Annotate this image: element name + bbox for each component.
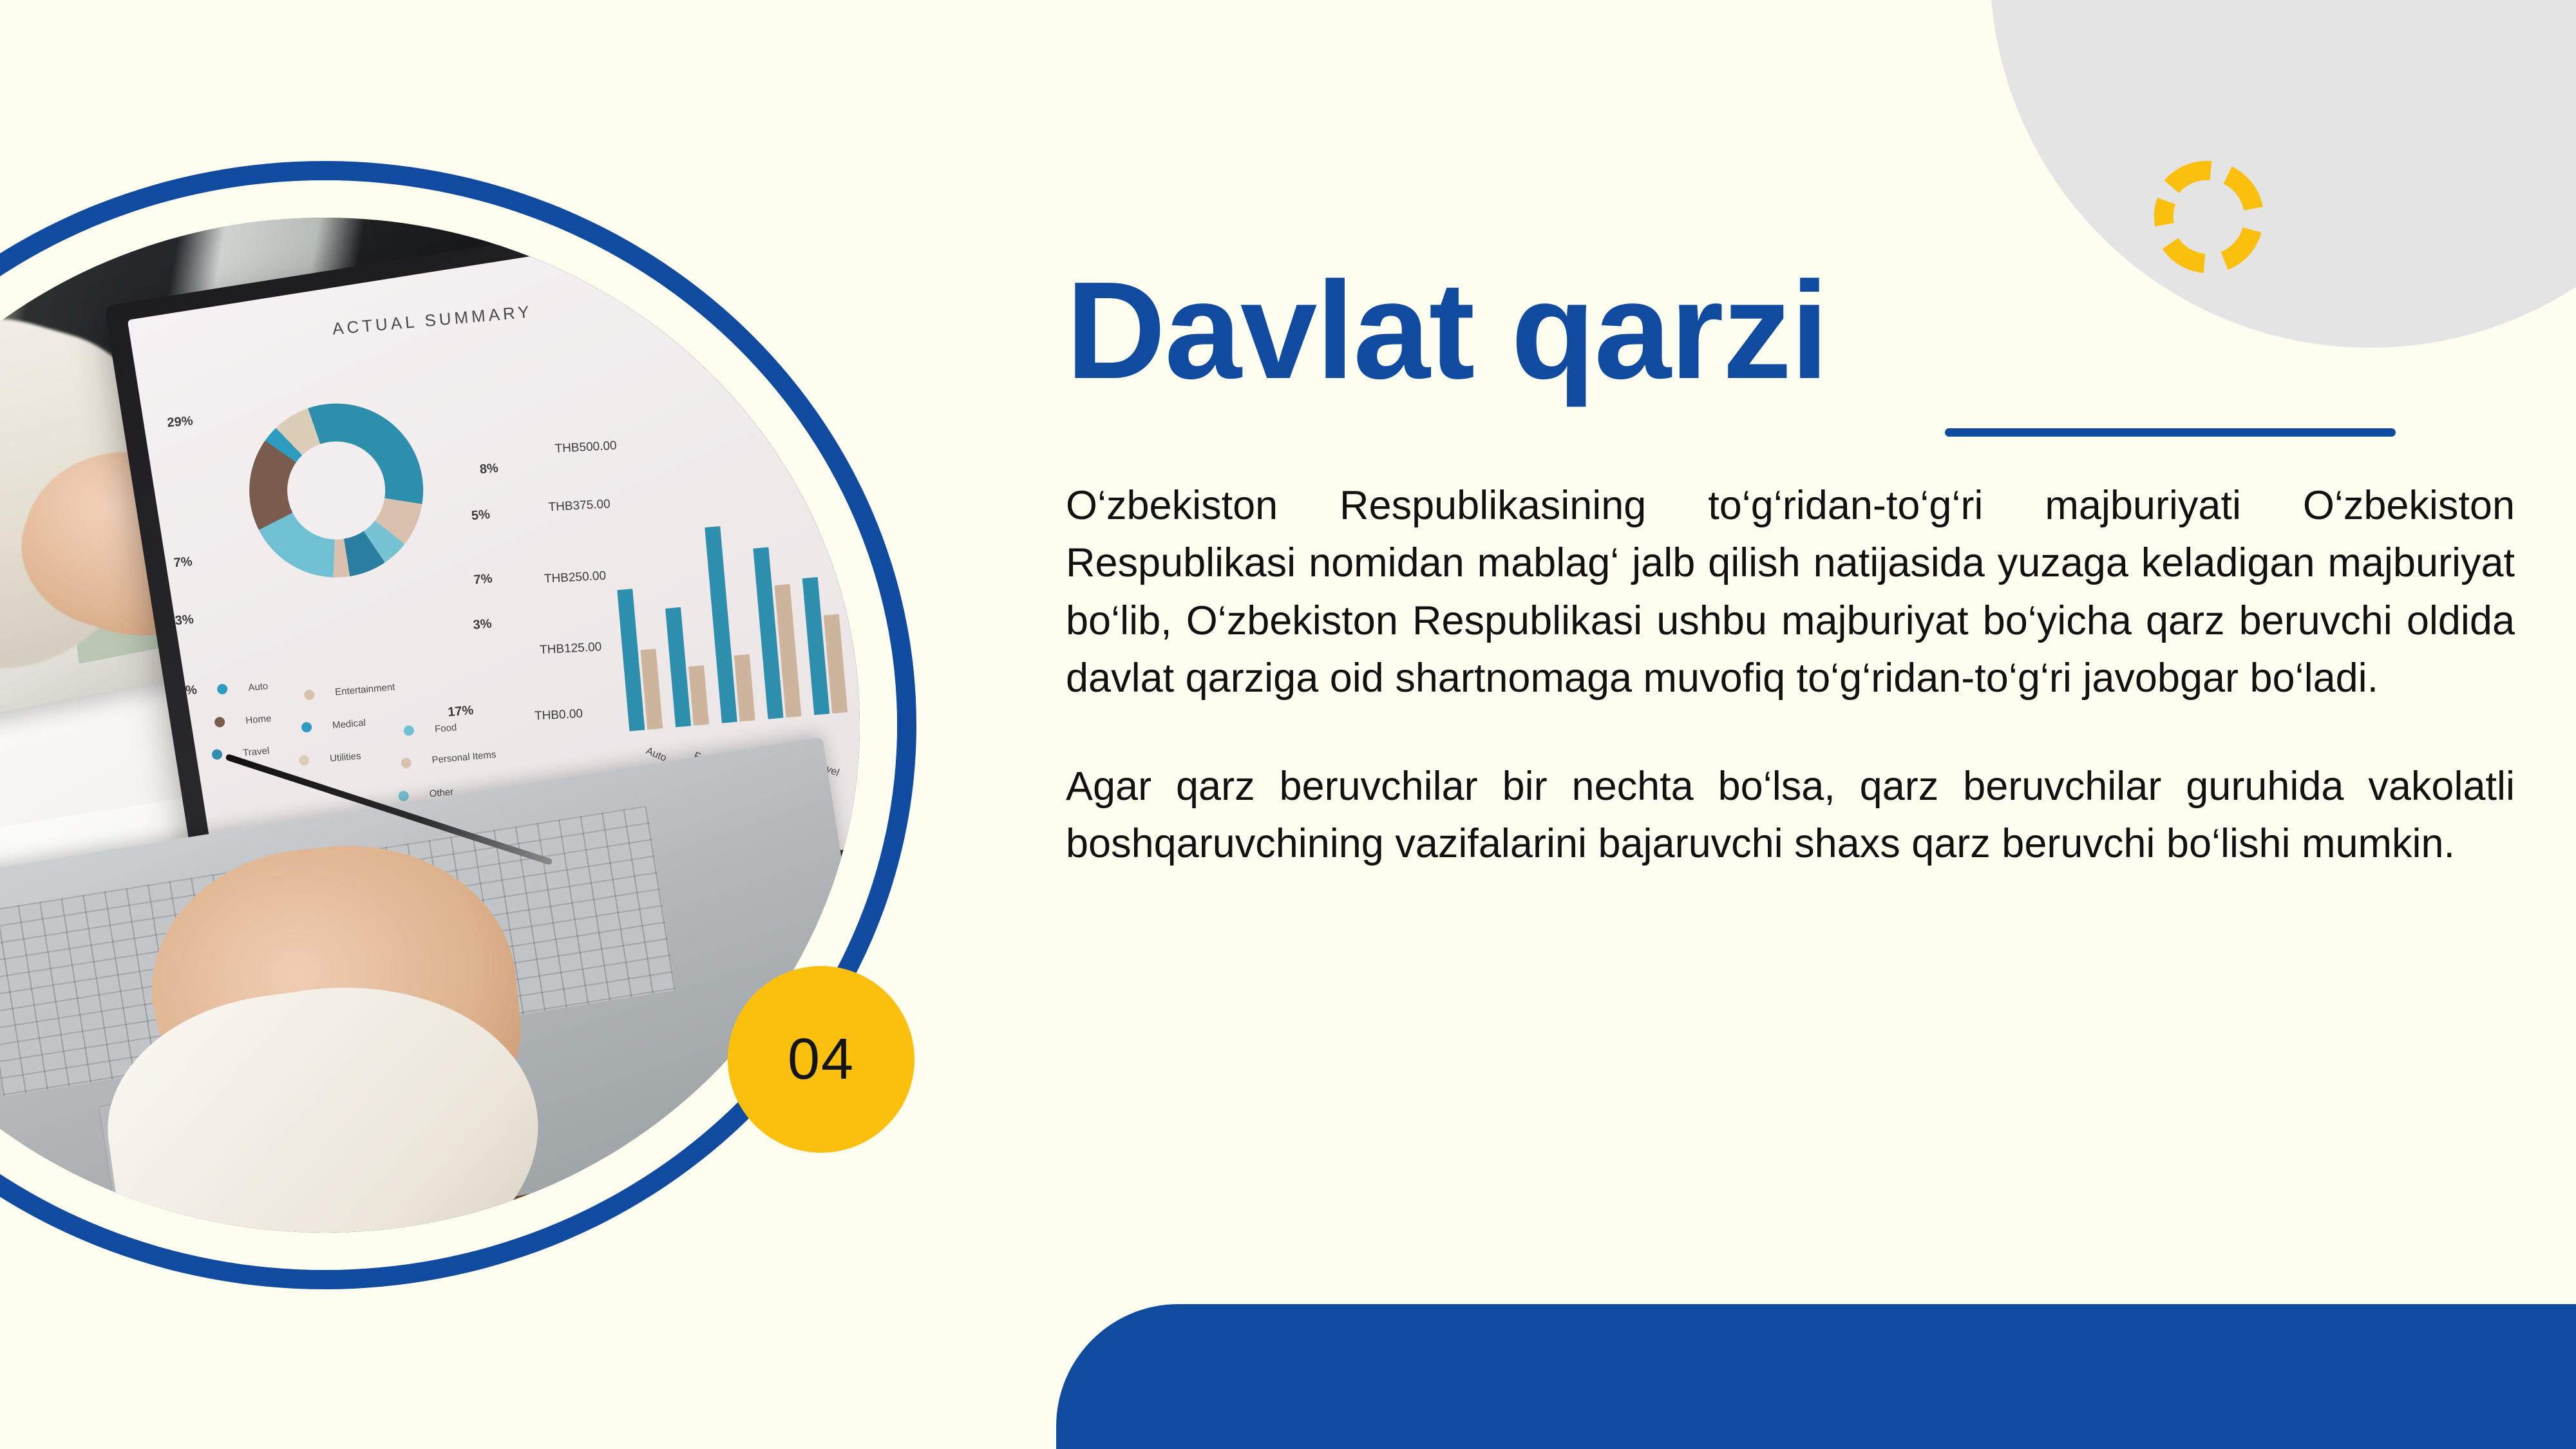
legend-label-food: Food (434, 722, 457, 735)
legend-label-personal-items: Personal Items (431, 749, 497, 766)
bar-actual-food (688, 665, 709, 725)
legend-label-home: Home (245, 712, 271, 725)
donut-pct-6: 7% (473, 571, 493, 587)
donut-pct-1: 7% (173, 554, 193, 571)
legend-dot-entertainment (303, 689, 315, 701)
donut-chart (242, 396, 431, 585)
donut-pct-4: 8% (479, 461, 499, 477)
bar-budget-other (802, 577, 829, 715)
legend-dot-food (402, 724, 414, 736)
page-title: Davlat qarzi (1066, 258, 2515, 403)
donut-pct-8: 17% (447, 703, 474, 720)
legend-label-travel: Travel (242, 745, 269, 759)
donut-pct-2: 3% (175, 612, 194, 628)
legend-dot-utilities (298, 754, 310, 766)
title-underline (1945, 428, 2396, 437)
bar-category-auto: Auto (644, 745, 668, 764)
donut-pct-5: 5% (471, 507, 491, 524)
axis-amount-0: THB0.00 (534, 706, 583, 723)
legend-dot-auto (216, 683, 228, 695)
text-column: Davlat qarzi O‘zbekiston Respublikasinin… (1066, 258, 2515, 873)
legend-label-auto: Auto (247, 681, 268, 694)
bar-budget-auto (616, 589, 644, 731)
axis-amount-375: THB375.00 (548, 497, 611, 515)
legend-dot-home (214, 716, 225, 728)
slide-canvas: ACTUAL SUMMARY 29% 7% 3% 1% 8% 5% 7% 3% … (0, 0, 2576, 1449)
legend-dot-personal-items (400, 757, 412, 768)
slide-number-badge: 04 (728, 966, 914, 1153)
legend-label-entertainment: Entertainment (334, 681, 395, 697)
legend-label-utilities: Utilities (329, 750, 361, 764)
donut-pct-3: 1% (178, 682, 198, 698)
axis-amount-500: THB500.00 (554, 439, 617, 456)
legend-dot-travel (211, 748, 223, 760)
axis-amount-250: THB250.00 (544, 569, 606, 586)
bottom-accent-bar (1056, 1304, 2576, 1449)
axis-amount-125: THB125.00 (539, 640, 601, 658)
donut-pct-7: 3% (472, 616, 492, 632)
dashboard-title: ACTUAL SUMMARY (332, 301, 533, 339)
body-paragraph-1: O‘zbekiston Respublikasining to‘g‘ridan-… (1066, 477, 2515, 708)
legend-dot-medical (301, 721, 312, 733)
body-paragraph-2: Agar qarz beruvchilar bir nechta bo‘lsa,… (1066, 758, 2515, 873)
legend-label-medical: Medical (332, 717, 366, 731)
donut-pct-0: 29% (166, 413, 193, 430)
